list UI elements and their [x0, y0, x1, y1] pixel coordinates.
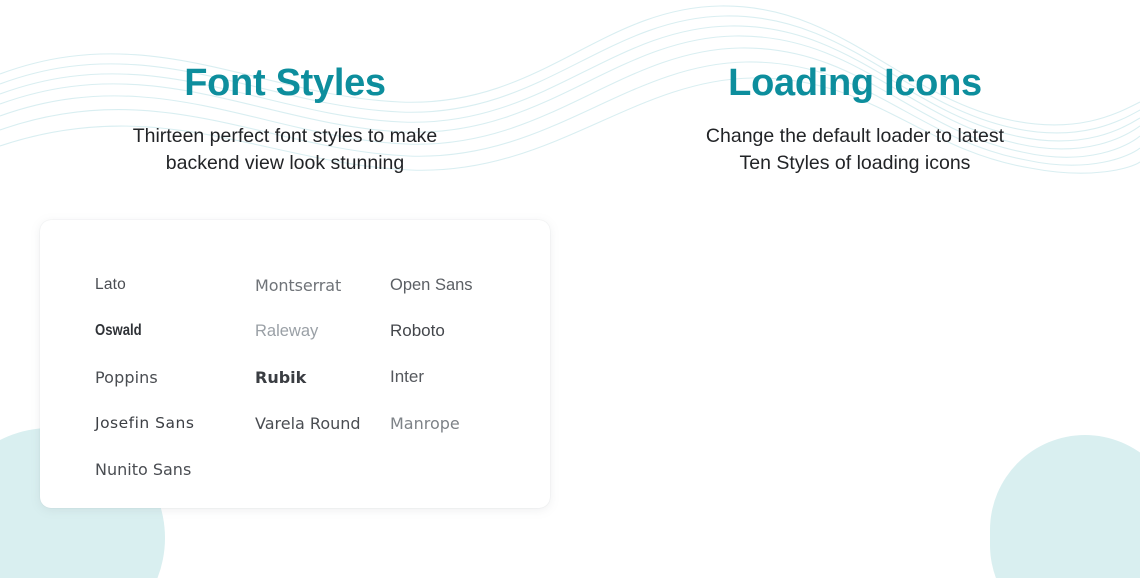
font-item-inter[interactable]: Inter — [390, 367, 510, 387]
font-item-open-sans[interactable]: Open Sans — [390, 276, 510, 295]
panel-loading-icons: Loading Icons Change the default loader … — [570, 0, 1140, 578]
font-item-manrope[interactable]: Manrope — [390, 414, 510, 433]
font-item-oswald[interactable]: Oswald — [95, 322, 226, 340]
font-item-varela-round[interactable]: Varela Round — [255, 414, 390, 433]
page-root: Font Styles Thirteen perfect font styles… — [0, 0, 1140, 578]
font-item-rubik[interactable]: Rubik — [255, 368, 390, 387]
font-item-nunito-sans[interactable]: Nunito Sans — [95, 460, 255, 479]
font-styles-title: Font Styles — [0, 62, 570, 106]
font-item-poppins[interactable]: Poppins — [95, 368, 255, 387]
font-styles-card: Lato Montserrat Open Sans Oswald Raleway… — [40, 220, 550, 508]
font-list: Lato Montserrat Open Sans Oswald Raleway… — [95, 262, 515, 492]
font-item-montserrat[interactable]: Montserrat — [255, 276, 390, 295]
font-item-raleway[interactable]: Raleway — [255, 322, 390, 341]
font-item-josefin-sans[interactable]: Josefin Sans — [95, 414, 255, 432]
loading-icons-subtitle: Change the default loader to latest Ten … — [570, 123, 1140, 177]
font-item-roboto[interactable]: Roboto — [390, 321, 510, 341]
font-styles-subtitle: Thirteen perfect font styles to make bac… — [0, 123, 570, 177]
font-item-lato[interactable]: Lato — [95, 276, 255, 294]
loading-icons-title: Loading Icons — [570, 62, 1140, 106]
panel-font-styles: Font Styles Thirteen perfect font styles… — [0, 0, 570, 578]
